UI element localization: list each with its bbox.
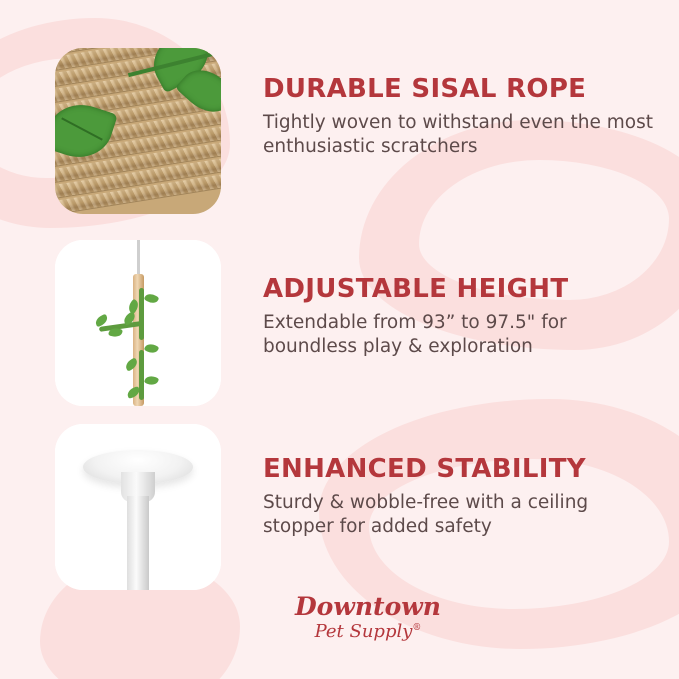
product-feature-infographic: DURABLE SISAL ROPE Tightly woven to with… bbox=[0, 0, 679, 679]
branch-decoration bbox=[139, 288, 144, 340]
brand-name: Downtown bbox=[258, 594, 478, 619]
feature-title: ADJUSTABLE HEIGHT bbox=[263, 276, 663, 303]
adjustable-pole-thumbnail bbox=[55, 240, 221, 406]
registered-trademark-icon: ® bbox=[412, 623, 421, 633]
feature-list: DURABLE SISAL ROPE Tightly woven to with… bbox=[0, 0, 679, 679]
feature-description: Tightly woven to withstand even the most… bbox=[263, 111, 663, 158]
feature-description: Extendable from 93” to 97.5" for boundle… bbox=[263, 311, 663, 358]
branch-decoration bbox=[139, 350, 144, 400]
feature-row: ENHANCED STABILITY Sturdy & wobble-free … bbox=[0, 424, 679, 590]
feature-description: Sturdy & wobble-free with a ceiling stop… bbox=[263, 491, 663, 538]
brand-subtitle: Pet Supply® bbox=[258, 622, 478, 642]
feature-text: DURABLE SISAL ROPE Tightly woven to with… bbox=[263, 48, 663, 159]
feature-text: ENHANCED STABILITY Sturdy & wobble-free … bbox=[263, 424, 663, 539]
feature-row: ADJUSTABLE HEIGHT Extendable from 93” to… bbox=[0, 240, 679, 406]
brand-logo: Downtown Pet Supply® bbox=[258, 594, 478, 642]
ceiling-stopper-thumbnail bbox=[55, 424, 221, 590]
ceiling-stopper-shaft bbox=[127, 496, 149, 590]
brand-subtitle-text: Pet Supply bbox=[315, 621, 413, 642]
feature-text: ADJUSTABLE HEIGHT Extendable from 93” to… bbox=[263, 240, 663, 359]
feature-title: DURABLE SISAL ROPE bbox=[263, 76, 663, 103]
sisal-rope-closeup-thumbnail bbox=[55, 48, 221, 214]
feature-title: ENHANCED STABILITY bbox=[263, 456, 663, 483]
feature-row: DURABLE SISAL ROPE Tightly woven to with… bbox=[0, 48, 679, 214]
